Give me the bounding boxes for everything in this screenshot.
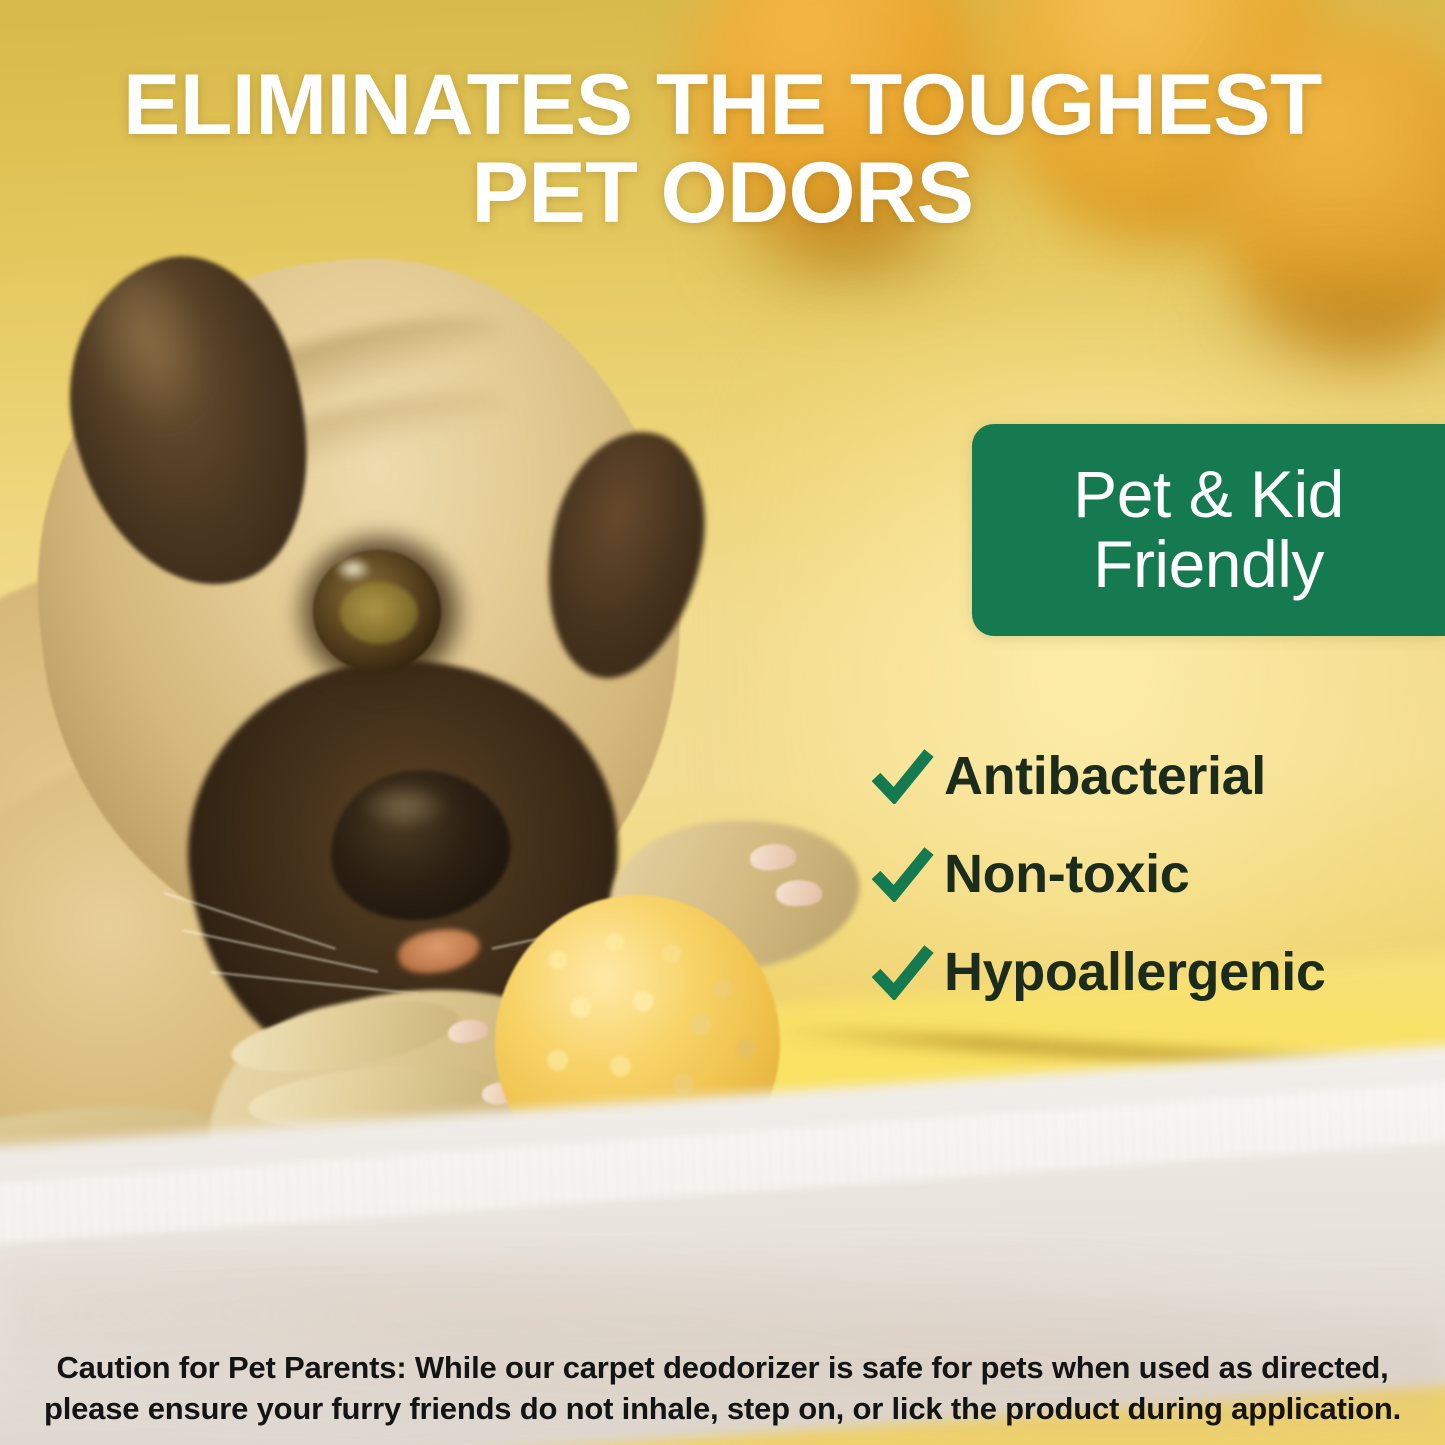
feature-label: Hypoallergenic — [944, 941, 1326, 1003]
caution-line-1: Caution for Pet Parents: While our carpe… — [34, 1348, 1411, 1389]
feature-label: Non-toxic — [944, 843, 1189, 905]
caution-line-2: please ensure your furry friends do not … — [34, 1389, 1411, 1430]
dog-nose-highlight — [360, 786, 450, 830]
headline-line-1: ELIMINATES THE TOUGHEST — [0, 62, 1445, 150]
badge-line-2: Friendly — [1093, 530, 1324, 600]
feature-item-antibacterial: Antibacterial — [872, 727, 1445, 825]
product-marketing-image: ELIMINATES THE TOUGHEST PET ODORS Pet & … — [0, 0, 1445, 1445]
pet-kid-friendly-badge: Pet & Kid Friendly — [972, 424, 1445, 636]
headline: ELIMINATES THE TOUGHEST PET ODORS — [0, 62, 1445, 237]
feature-list: Antibacterial Non-toxic Hypoallergenic — [872, 727, 1445, 1021]
check-icon — [872, 944, 944, 1000]
check-icon — [872, 748, 944, 804]
dog-eye-glint — [334, 556, 372, 582]
check-icon — [872, 846, 944, 902]
dog-eye-iris — [340, 582, 418, 644]
feature-item-non-toxic: Non-toxic — [872, 825, 1445, 923]
caution-note: Caution for Pet Parents: While our carpe… — [0, 1348, 1445, 1430]
badge-line-1: Pet & Kid — [1073, 460, 1344, 530]
feature-label: Antibacterial — [944, 745, 1266, 807]
feature-item-hypoallergenic: Hypoallergenic — [872, 923, 1445, 1021]
headline-line-2: PET ODORS — [0, 150, 1445, 238]
